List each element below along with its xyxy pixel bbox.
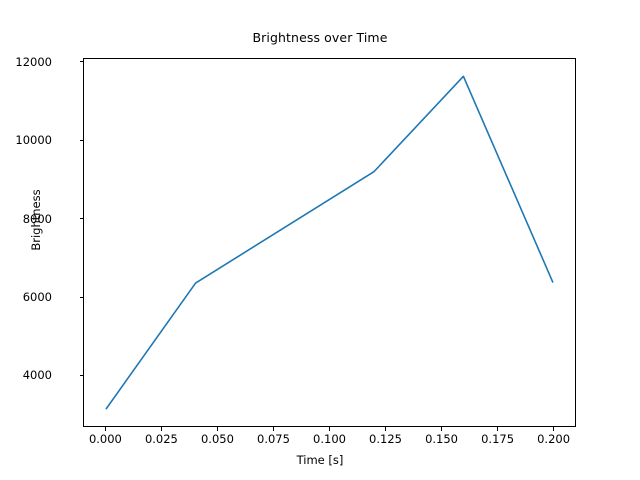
- x-tick-label: 0.000: [89, 432, 122, 446]
- x-tick-mark: [217, 427, 218, 431]
- y-tick-mark: [80, 375, 84, 376]
- x-tick-mark: [105, 427, 106, 431]
- x-tick-label: 0.100: [313, 432, 346, 446]
- x-tick-label: 0.175: [481, 432, 514, 446]
- plot-axes-area: [83, 58, 576, 427]
- y-tick-mark: [80, 297, 84, 298]
- x-axis-label: Time [s]: [0, 453, 640, 467]
- x-tick-label: 0.050: [201, 432, 234, 446]
- x-tick-mark: [497, 427, 498, 431]
- x-tick-label: 0.025: [145, 432, 178, 446]
- y-axis-label: Brightness: [29, 160, 43, 280]
- y-tick-mark: [80, 218, 84, 219]
- y-tick-label: 10000: [0, 133, 52, 147]
- y-tick-label: 4000: [0, 368, 52, 382]
- x-tick-label: 0.200: [537, 432, 570, 446]
- x-tick-mark: [329, 427, 330, 431]
- line-series-svg: [84, 59, 575, 426]
- y-tick-mark: [80, 61, 84, 62]
- x-tick-mark: [441, 427, 442, 431]
- data-line-brightness: [106, 76, 552, 408]
- chart-title: Brightness over Time: [0, 30, 640, 45]
- x-tick-mark: [553, 427, 554, 431]
- y-tick-label: 8000: [0, 212, 52, 226]
- x-tick-mark: [273, 427, 274, 431]
- y-tick-label: 6000: [0, 290, 52, 304]
- x-tick-label: 0.150: [425, 432, 458, 446]
- y-tick-mark: [80, 140, 84, 141]
- y-tick-label: 12000: [0, 55, 52, 69]
- x-tick-mark: [161, 427, 162, 431]
- x-tick-label: 0.075: [257, 432, 290, 446]
- x-tick-label: 0.125: [369, 432, 402, 446]
- x-tick-mark: [385, 427, 386, 431]
- figure-canvas: Brightness over Time 4000600080001000012…: [0, 0, 640, 480]
